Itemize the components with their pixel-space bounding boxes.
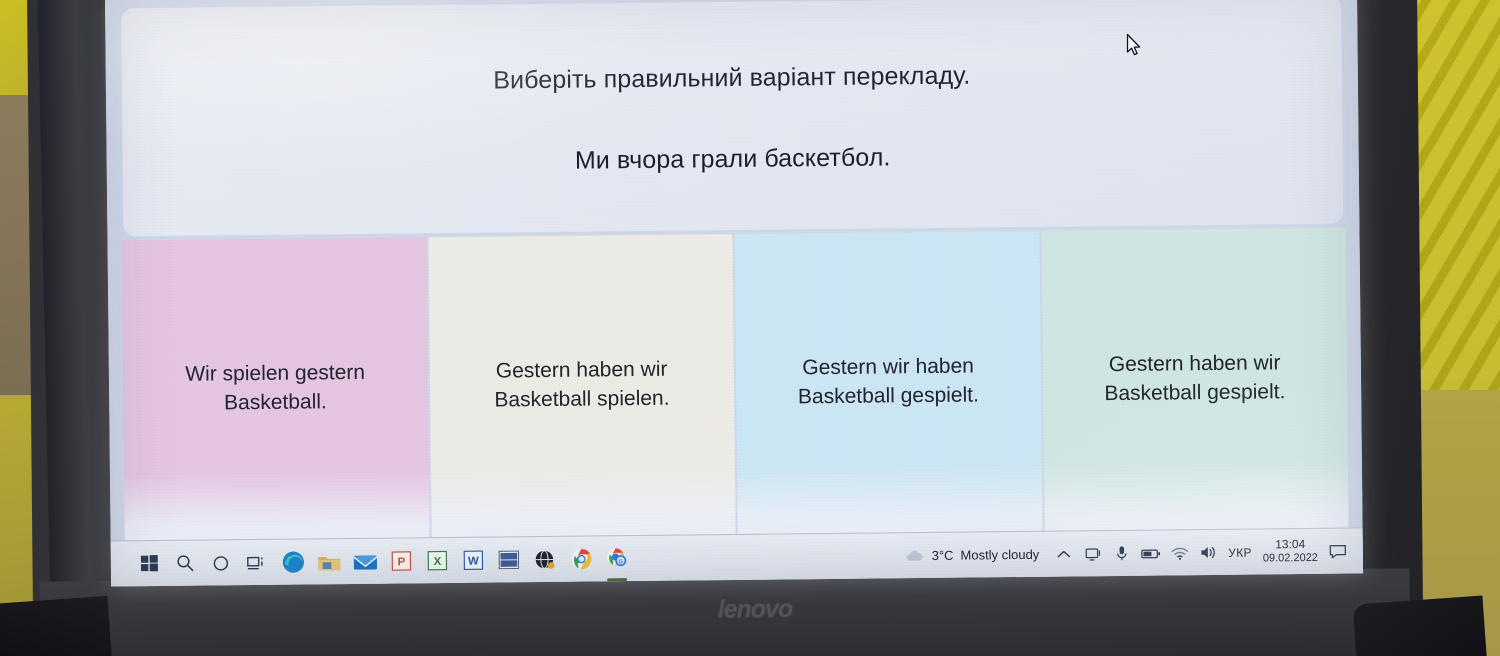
clock-date: 09.02.2022: [1263, 552, 1318, 566]
system-tray: 3°C Mostly cloudy: [905, 537, 1363, 570]
question-card: Виберіть правильний варіант перекладу. М…: [121, 0, 1343, 236]
answer-option-b[interactable]: Gestern haben wir Basketball spielen.: [428, 234, 736, 537]
folder-icon: [316, 551, 341, 573]
lpgtech-icon: [498, 549, 520, 570]
lenovo-logo: lenovo: [655, 594, 855, 625]
chrome-active-button[interactable]: G: [601, 543, 633, 575]
word-icon: W: [462, 550, 483, 571]
excel-button[interactable]: X: [421, 544, 453, 576]
edge-icon: [280, 550, 305, 575]
file-explorer-button[interactable]: [313, 546, 345, 578]
laptop-hinge-left: [0, 596, 112, 656]
microphone-icon[interactable]: [1112, 543, 1132, 563]
globe-app-button[interactable]: [529, 543, 561, 575]
laptop-bezel-left-edge: [37, 0, 115, 631]
task-view-button[interactable]: [241, 546, 273, 578]
question-instruction: Виберіть правильний варіант перекладу.: [493, 62, 970, 96]
svg-text:X: X: [433, 556, 441, 568]
chrome-icon: [569, 547, 592, 570]
answer-options: Wir spielen gestern Basketball. Gestern …: [122, 228, 1349, 541]
chrome-icon: G: [605, 547, 628, 570]
answer-option-d[interactable]: Gestern haben wir Basketball gespielt.: [1041, 228, 1349, 531]
wifi-icon[interactable]: [1170, 543, 1190, 563]
search-icon: [175, 554, 194, 573]
mouse-cursor-icon: [1126, 33, 1143, 58]
answer-option-d-line1: Gestern haben wir: [1109, 351, 1281, 376]
globe-icon: [534, 548, 556, 570]
laptop-screen: Виберіть правильний варіант перекладу. М…: [105, 0, 1363, 587]
lpgtech-button[interactable]: [493, 544, 525, 576]
clock-time: 13:04: [1263, 537, 1318, 552]
battery-icon[interactable]: [1141, 543, 1161, 563]
chrome-button[interactable]: [565, 543, 597, 575]
windows-icon: [140, 555, 157, 572]
clock-widget[interactable]: 13:04 09.02.2022: [1263, 537, 1318, 566]
answer-option-d-label: Gestern haben wir Basketball gespielt.: [1104, 349, 1286, 409]
svg-text:W: W: [467, 555, 478, 567]
answer-option-d-line2: Basketball gespielt.: [1104, 380, 1285, 405]
cortana-icon: [212, 554, 230, 572]
start-button[interactable]: [133, 547, 165, 579]
answer-option-a[interactable]: Wir spielen gestern Basketball.: [122, 237, 430, 540]
answer-option-a-fade: [124, 471, 429, 540]
answer-option-c[interactable]: Gestern wir haben Basketball gespielt.: [734, 231, 1042, 534]
speaker-icon[interactable]: [1199, 542, 1219, 562]
photo-scene: lenovo Виберіть правильний варіант перек…: [0, 0, 1500, 656]
taskbar-app-icons: P X: [111, 543, 633, 580]
laptop-hinge-right: [1353, 596, 1488, 656]
answer-option-b-label: Gestern haben wir Basketball spielen.: [494, 356, 670, 416]
powerpoint-button[interactable]: P: [385, 545, 417, 577]
answer-option-b-fade: [430, 468, 735, 537]
weather-description: Mostly cloudy: [960, 547, 1039, 563]
answer-option-c-line2: Basketball gespielt.: [798, 383, 979, 408]
answer-option-c-line1: Gestern wir haben: [802, 355, 974, 380]
answer-option-c-fade: [737, 465, 1042, 534]
question-sentence: Ми вчора грали баскетбол.: [575, 143, 891, 175]
cloud-icon: [905, 546, 925, 566]
taskbar-spacer: [633, 556, 905, 559]
answer-option-a-line1: Wir spielen gestern: [185, 361, 365, 386]
svg-text:P: P: [397, 556, 405, 568]
quiz-page: Виберіть правильний варіант перекладу. М…: [105, 0, 1363, 587]
answer-option-c-label: Gestern wir haben Basketball gespielt.: [798, 352, 980, 412]
answer-option-b-line2: Basketball spielen.: [494, 387, 669, 412]
chevron-up-icon[interactable]: [1054, 544, 1074, 564]
excel-icon: X: [426, 550, 447, 571]
powerpoint-icon: P: [390, 550, 411, 571]
answer-option-a-label: Wir spielen gestern Basketball.: [185, 359, 365, 419]
answer-option-d-fade: [1043, 462, 1348, 531]
task-view-icon: [247, 553, 267, 571]
search-button[interactable]: [169, 547, 201, 579]
word-button[interactable]: W: [457, 544, 489, 576]
answer-option-b-line1: Gestern haben wir: [496, 358, 668, 383]
edge-button[interactable]: [277, 546, 309, 578]
cortana-button[interactable]: [205, 547, 237, 579]
answer-option-a-line2: Basketball.: [224, 390, 327, 414]
mail-icon: [352, 551, 377, 571]
svg-text:G: G: [618, 559, 623, 565]
weather-temperature: 3°C: [932, 548, 954, 563]
monitor-icon[interactable]: [1083, 544, 1103, 564]
weather-widget[interactable]: 3°C Mostly cloudy: [905, 544, 1040, 565]
language-indicator[interactable]: УКР: [1228, 545, 1252, 559]
mail-button[interactable]: [349, 545, 381, 577]
speech-bubble-icon[interactable]: [1327, 540, 1349, 562]
